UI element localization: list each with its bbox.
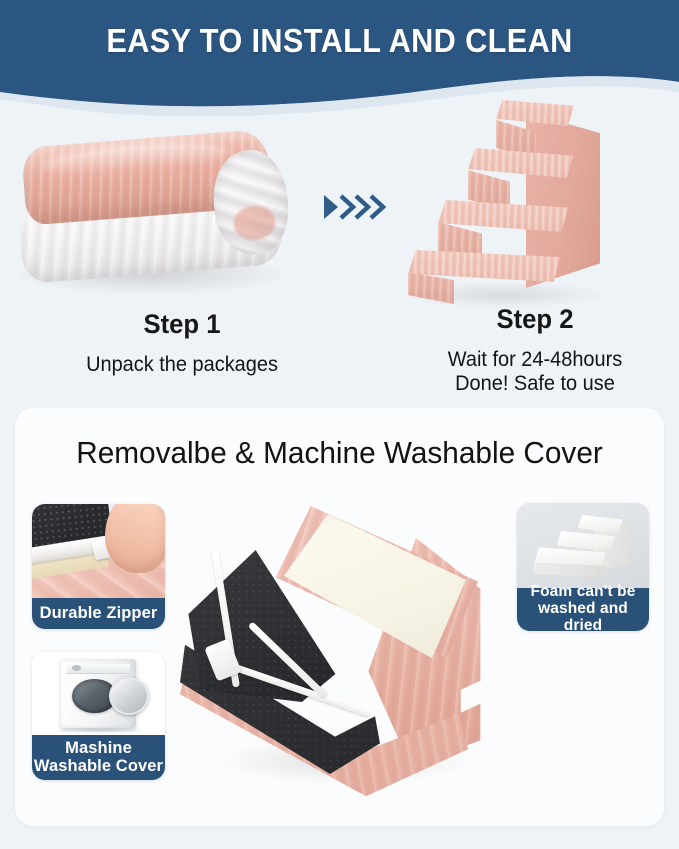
step-2-caption: Step 2 Wait for 24-48hours Done! Safe to… [400, 304, 670, 396]
washing-machine-image [32, 652, 165, 735]
washing-machine-shadow [53, 727, 146, 734]
package-body [13, 128, 288, 288]
steps-section: Step 1 Unpack the packages Step 2 Wait f… [0, 96, 679, 408]
step-2-title: Step 2 [407, 304, 664, 335]
white-foam-stairs-image [517, 503, 649, 588]
page-title: EASY TO INSTALL AND CLEAN [24, 22, 655, 60]
feature-label-machine-washable: Mashine Washable Cover [32, 735, 165, 780]
step-1-title: Step 1 [30, 309, 334, 340]
step-1-description: Unpack the packages [30, 353, 334, 377]
feature-card-durable-zipper[interactable]: Durable Zipper [32, 504, 165, 629]
triple-chevron-right-icon [322, 192, 390, 222]
zipper-closeup-image [32, 504, 165, 600]
package-highlight [39, 138, 230, 179]
pink-pet-stairs-image [398, 96, 608, 311]
stairs-tread-4 [496, 100, 574, 126]
cover-section-title: Removalbe & Machine Washable Cover [28, 435, 651, 471]
feature-card-foam-care[interactable]: Foam can't be washed and dried [517, 503, 649, 631]
feature-card-machine-washable[interactable]: Mashine Washable Cover [32, 652, 165, 780]
step-1-caption: Step 1 Unpack the packages [22, 309, 342, 377]
washable-cover-section: Removalbe & Machine Washable Cover Durab… [15, 408, 664, 826]
feature-label-foam-care: Foam can't be washed and dried [517, 588, 649, 631]
feature-label-durable-zipper: Durable Zipper [32, 598, 165, 629]
washing-machine-open-door [109, 677, 149, 715]
compressed-package-roll-image [12, 124, 292, 299]
hand-image [105, 504, 165, 573]
pink-stairs-cover-peeled-image [180, 500, 530, 820]
step-2-description: Wait for 24-48hours Done! Safe to use [407, 348, 664, 396]
